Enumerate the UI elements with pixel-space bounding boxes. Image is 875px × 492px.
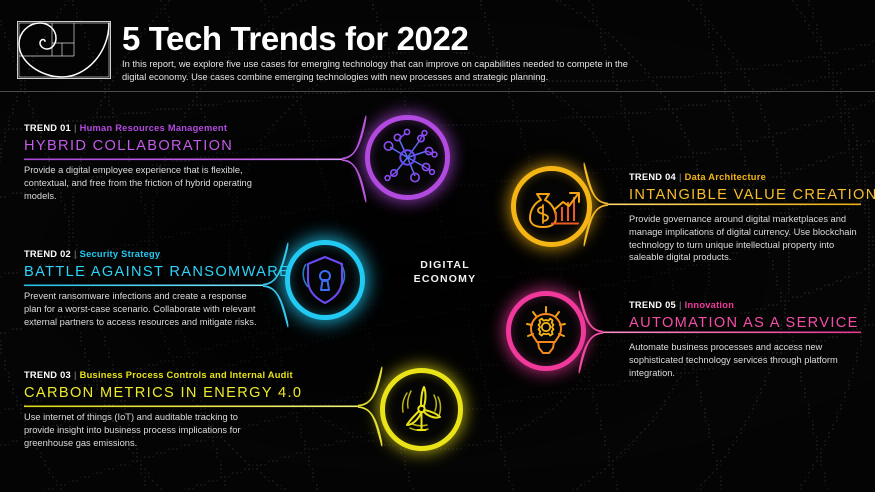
- infographic-canvas: 5 Tech Trends for 2022 In this report, w…: [0, 0, 875, 492]
- trend-03-number: TREND 03: [24, 370, 71, 380]
- trend-05-number: TREND 05: [629, 300, 676, 310]
- trend-05-icon-circle[interactable]: [506, 291, 586, 371]
- trend-05-body: Automate business processes and access n…: [629, 341, 857, 379]
- page-subtitle: In this report, we explore five use case…: [122, 58, 637, 83]
- trend-05-category: Innovation: [685, 300, 735, 310]
- lightbulb-gear-icon: [506, 291, 586, 371]
- trend-03-eyebrow: TREND 03|Business Process Controls and I…: [24, 369, 296, 381]
- trend-04-category: Data Architecture: [685, 172, 766, 182]
- trend-02-separator: |: [71, 249, 80, 259]
- center-label-digital-economy: DIGITAL ECONOMY: [402, 258, 488, 286]
- trend-04-title: INTANGIBLE VALUE CREATION: [629, 186, 861, 205]
- trend-05-separator: |: [676, 300, 685, 310]
- trend-02-title: BATTLE AGAINST RANSOMWARE: [24, 263, 262, 282]
- wind-turbine-icon: [380, 368, 463, 451]
- network-nodes-icon: [365, 115, 450, 200]
- header-divider: [0, 91, 875, 92]
- golden-spiral-logo: [17, 21, 111, 79]
- trend-04-icon-circle[interactable]: [511, 166, 592, 247]
- trend-block-05[interactable]: TREND 05|Innovation AUTOMATION AS A SERV…: [629, 299, 861, 379]
- trend-01-separator: |: [71, 123, 80, 133]
- trend-05-title: AUTOMATION AS A SERVICE: [629, 314, 861, 333]
- trend-02-icon-circle[interactable]: [285, 240, 365, 320]
- trend-01-category: Human Resources Management: [80, 123, 228, 133]
- trend-04-number: TREND 04: [629, 172, 676, 182]
- trend-04-separator: |: [676, 172, 685, 182]
- shield-lock-icon: [285, 240, 365, 320]
- center-label-line2: ECONOMY: [402, 272, 488, 286]
- trend-01-body: Provide a digital employee experience th…: [24, 164, 262, 202]
- trend-03-separator: |: [71, 370, 80, 380]
- trend-01-number: TREND 01: [24, 123, 71, 133]
- trend-02-category: Security Strategy: [80, 249, 161, 259]
- trend-02-number: TREND 02: [24, 249, 71, 259]
- trend-04-body: Provide governance around digital market…: [629, 213, 857, 264]
- center-label-line1: DIGITAL: [402, 258, 488, 272]
- trend-04-eyebrow: TREND 04|Data Architecture: [629, 171, 861, 183]
- trend-block-04[interactable]: TREND 04|Data Architecture INTANGIBLE VA…: [629, 171, 861, 264]
- trend-03-icon-circle[interactable]: [380, 368, 463, 451]
- trend-03-body: Use internet of things (IoT) and auditab…: [24, 411, 264, 449]
- page-title: 5 Tech Trends for 2022: [122, 21, 468, 57]
- trend-block-02[interactable]: TREND 02|Security Strategy BATTLE AGAINS…: [24, 248, 262, 328]
- trend-02-body: Prevent ransomware infections and create…: [24, 290, 262, 328]
- trend-block-03[interactable]: TREND 03|Business Process Controls and I…: [24, 369, 296, 449]
- trend-01-icon-circle[interactable]: [365, 115, 450, 200]
- trend-block-01[interactable]: TREND 01|Human Resources Management HYBR…: [24, 122, 262, 202]
- header: 5 Tech Trends for 2022 In this report, w…: [0, 0, 875, 91]
- trend-02-eyebrow: TREND 02|Security Strategy: [24, 248, 262, 260]
- trend-03-category: Business Process Controls and Internal A…: [80, 370, 293, 380]
- trend-03-title: CARBON METRICS IN ENERGY 4.0: [24, 384, 296, 403]
- trend-05-eyebrow: TREND 05|Innovation: [629, 299, 861, 311]
- trend-01-title: HYBRID COLLABORATION: [24, 137, 262, 156]
- money-bag-growth-chart-icon: [511, 166, 592, 247]
- trend-01-eyebrow: TREND 01|Human Resources Management: [24, 122, 262, 134]
